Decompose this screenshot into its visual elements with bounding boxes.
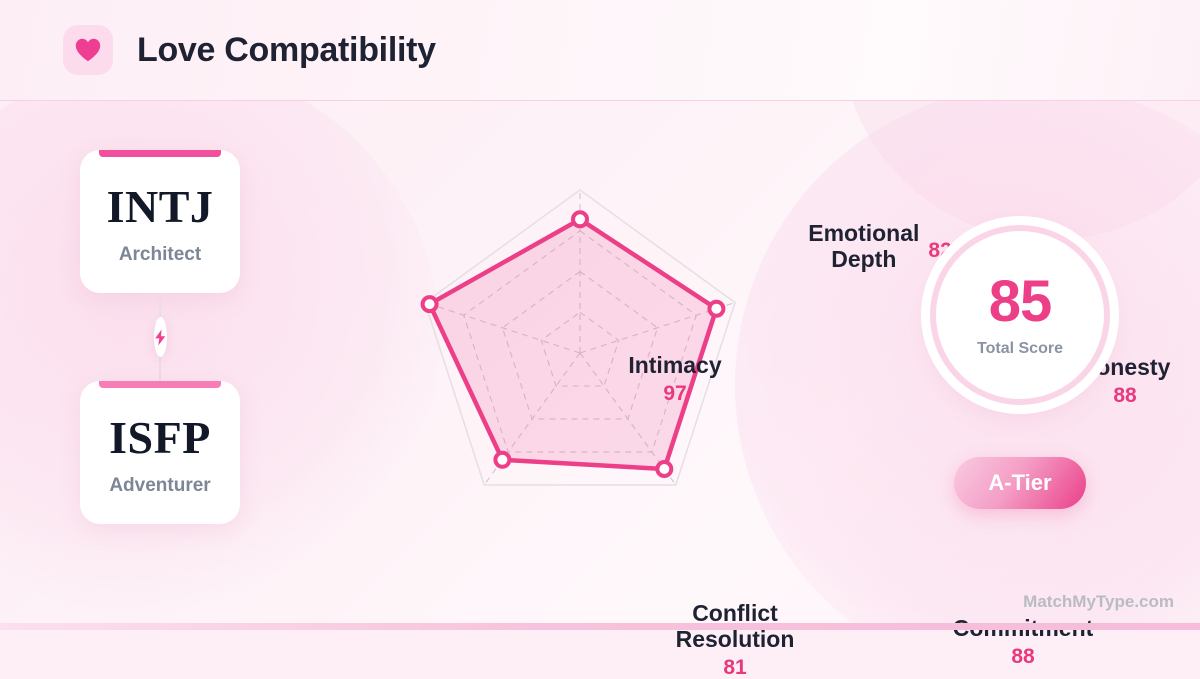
radar-series-polygon bbox=[430, 219, 717, 469]
score-panel: 85 Total Score A-Tier bbox=[905, 225, 1135, 509]
personality-role-second: Adventurer bbox=[109, 475, 210, 497]
axis-name-4: Intimacy bbox=[575, 353, 775, 379]
personality-card-first[interactable]: INTJ Architect bbox=[80, 150, 240, 293]
personality-role-first: Architect bbox=[119, 244, 201, 266]
site-watermark: MatchMyType.com bbox=[1023, 592, 1174, 612]
personality-types-column: INTJ Architect ISFP Adventurer bbox=[80, 150, 240, 524]
bottom-accent-bar bbox=[0, 623, 1200, 630]
total-score-caption: Total Score bbox=[977, 340, 1063, 358]
personality-code-second: ISFP bbox=[109, 415, 211, 461]
radar-chart: Emotional Depth 82 Honesty 88 Commitment… bbox=[300, 101, 900, 630]
header-bar: Love Compatibility bbox=[0, 0, 1200, 101]
card-accent-bar-second bbox=[99, 381, 221, 388]
card-accent-bar-first bbox=[99, 150, 221, 157]
total-score-circle: 85 Total Score bbox=[930, 225, 1110, 405]
axis-value-2: 88 bbox=[908, 645, 1138, 669]
axis-label-intimacy: Intimacy 97 bbox=[575, 353, 775, 405]
axis-value-4: 97 bbox=[575, 382, 775, 406]
axis-name-0: Emotional Depth bbox=[808, 221, 919, 273]
lightning-bolt-icon bbox=[154, 317, 167, 357]
types-connector bbox=[159, 293, 161, 381]
axis-label-conflict-resolution: Conflict Resolution 81 bbox=[625, 601, 845, 679]
page-title: Love Compatibility bbox=[137, 31, 436, 70]
total-score-value: 85 bbox=[989, 273, 1052, 331]
tier-badge: A-Tier bbox=[954, 457, 1085, 509]
axis-value-3: 81 bbox=[625, 656, 845, 679]
personality-code-first: INTJ bbox=[107, 184, 214, 230]
heart-icon bbox=[63, 25, 113, 75]
personality-card-second[interactable]: ISFP Adventurer bbox=[80, 381, 240, 524]
